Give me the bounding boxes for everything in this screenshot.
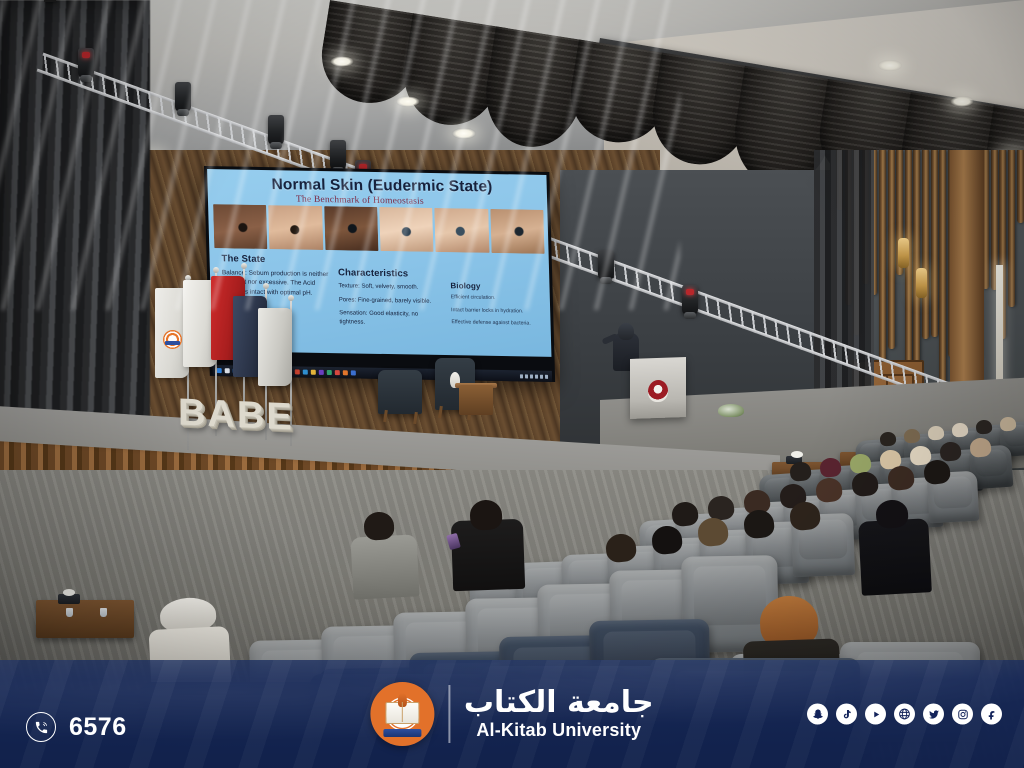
podium xyxy=(630,357,686,419)
recessed-downlight xyxy=(950,96,974,107)
stage-letter: E xyxy=(266,399,292,434)
eye-photo xyxy=(324,206,379,251)
slide-column-biology: Biology Efficient circulation. Intact ba… xyxy=(450,281,543,333)
audience-member xyxy=(875,499,909,529)
university-names: جامعة الكتاب Al-Kitab University xyxy=(464,688,654,741)
taskbar-app-icon[interactable] xyxy=(217,368,222,373)
seal-open-book xyxy=(385,702,419,724)
slide-title: Normal Skin (Eudermic State) xyxy=(271,177,544,196)
eye-photo xyxy=(268,205,323,250)
column-text: Sensation: Good elasticity, no tightness… xyxy=(339,310,444,329)
audience-member xyxy=(927,425,944,440)
snapchat-icon[interactable] xyxy=(807,704,828,725)
social-media-links[interactable] xyxy=(807,704,1002,725)
flower-arrangement xyxy=(718,404,744,417)
audience-member xyxy=(975,419,992,434)
eye-photo xyxy=(379,207,434,252)
youtube-icon[interactable] xyxy=(865,704,886,725)
audience-member xyxy=(469,499,503,531)
eye-photo xyxy=(490,209,545,254)
auditorium-photo: Normal Skin (Eudermic State) The Benchma… xyxy=(0,0,1024,768)
column-text: Effective defense against bacteria. xyxy=(451,319,543,328)
recessed-downlight xyxy=(396,96,420,107)
taskbar-app-icon[interactable] xyxy=(343,370,348,375)
audience-member-torso xyxy=(350,534,419,599)
eye-photo xyxy=(213,204,268,249)
moving-head-light xyxy=(78,48,94,78)
moving-head-light xyxy=(330,140,346,170)
phone-number: 6576 xyxy=(69,713,127,742)
column-text: Intact barrier locks in hydration. xyxy=(451,307,543,316)
wall-fin xyxy=(1017,150,1024,223)
wall-fin xyxy=(939,150,946,388)
taskbar-system-tray[interactable] xyxy=(520,374,548,378)
university-branding: جامعة الكتاب Al-Kitab University xyxy=(370,682,653,746)
contact-phone-block: 6576 xyxy=(26,712,127,742)
website-globe-icon[interactable] xyxy=(894,704,915,725)
recessed-downlight xyxy=(330,56,354,67)
audience-member xyxy=(999,416,1016,431)
stage-letter: B xyxy=(237,398,265,433)
audience-member xyxy=(879,431,896,446)
audience-member xyxy=(363,511,395,541)
audience-member xyxy=(951,422,968,437)
bottom-branding-banner: 6576 جامعة الكتاب Al-Kitab University xyxy=(0,660,1024,768)
wall-fin xyxy=(1008,150,1015,307)
university-name-arabic: جامعة الكتاب xyxy=(464,688,654,718)
taskbar-app-icon[interactable] xyxy=(351,370,356,375)
column-text: Pores: Fine-grained, barely visible. xyxy=(339,296,443,307)
taskbar-app-icon[interactable] xyxy=(319,370,324,375)
moving-head-light xyxy=(268,115,284,145)
wall-fin xyxy=(888,150,895,349)
taskbar-app-icon[interactable] xyxy=(225,368,230,373)
water-cup xyxy=(100,608,107,617)
water-cup xyxy=(66,608,73,617)
column-text: Efficient circulation. xyxy=(451,294,543,303)
column-heading: Biology xyxy=(450,281,542,292)
eye-photo xyxy=(435,208,490,253)
pendant-light xyxy=(898,238,909,268)
column-heading: Characteristics xyxy=(338,267,442,280)
university-name-english: Al-Kitab University xyxy=(476,720,641,741)
phone-call-icon xyxy=(26,712,56,742)
column-heading: The State xyxy=(221,253,329,266)
recessed-downlight xyxy=(452,128,476,139)
seal-ribbon xyxy=(383,729,421,737)
tiktok-icon[interactable] xyxy=(836,704,857,725)
flag-grey-flag xyxy=(258,308,292,386)
wall-fin xyxy=(879,150,886,363)
university-seal-icon xyxy=(370,682,434,746)
column-text: Texture: Soft, velvety, smooth. xyxy=(338,282,442,293)
taskbar-app-icon[interactable] xyxy=(311,370,316,375)
pendant-light xyxy=(916,268,927,298)
stage-letters-babe: BABE xyxy=(178,396,292,435)
brand-divider xyxy=(448,685,450,743)
taskbar-app-icon[interactable] xyxy=(327,370,332,375)
audience-member xyxy=(903,428,920,443)
moving-head-light xyxy=(682,285,698,315)
stage-side-table xyxy=(459,385,493,415)
twitter-icon[interactable] xyxy=(923,704,944,725)
taskbar-app-icon[interactable] xyxy=(335,370,340,375)
stage-letter: B xyxy=(178,396,206,431)
instagram-icon[interactable] xyxy=(952,704,973,725)
taskbar-app-icon[interactable] xyxy=(295,369,300,374)
podium-crest-emblem xyxy=(648,380,668,403)
audience-member-torso xyxy=(858,518,932,596)
flag-university-seal xyxy=(163,330,182,349)
taskbar-app-icon[interactable] xyxy=(303,370,308,375)
stage-armchair xyxy=(378,370,422,414)
moving-head-light xyxy=(598,250,614,280)
wall-fin xyxy=(905,150,912,395)
speaker-headscarf xyxy=(618,323,634,340)
stage-letter: A xyxy=(207,397,235,432)
moving-head-light xyxy=(175,82,191,112)
wall-fin xyxy=(922,150,929,339)
tissue-box xyxy=(58,594,80,604)
wall-fin xyxy=(931,150,938,337)
facebook-icon[interactable] xyxy=(981,704,1002,725)
podium-desk-flag xyxy=(44,0,56,2)
recessed-downlight xyxy=(878,60,902,71)
wall-light-slit xyxy=(996,265,1003,385)
slide-column-characteristics: Characteristics Texture: Soft, velvety, … xyxy=(338,267,444,334)
aisle-side-table xyxy=(36,600,134,638)
